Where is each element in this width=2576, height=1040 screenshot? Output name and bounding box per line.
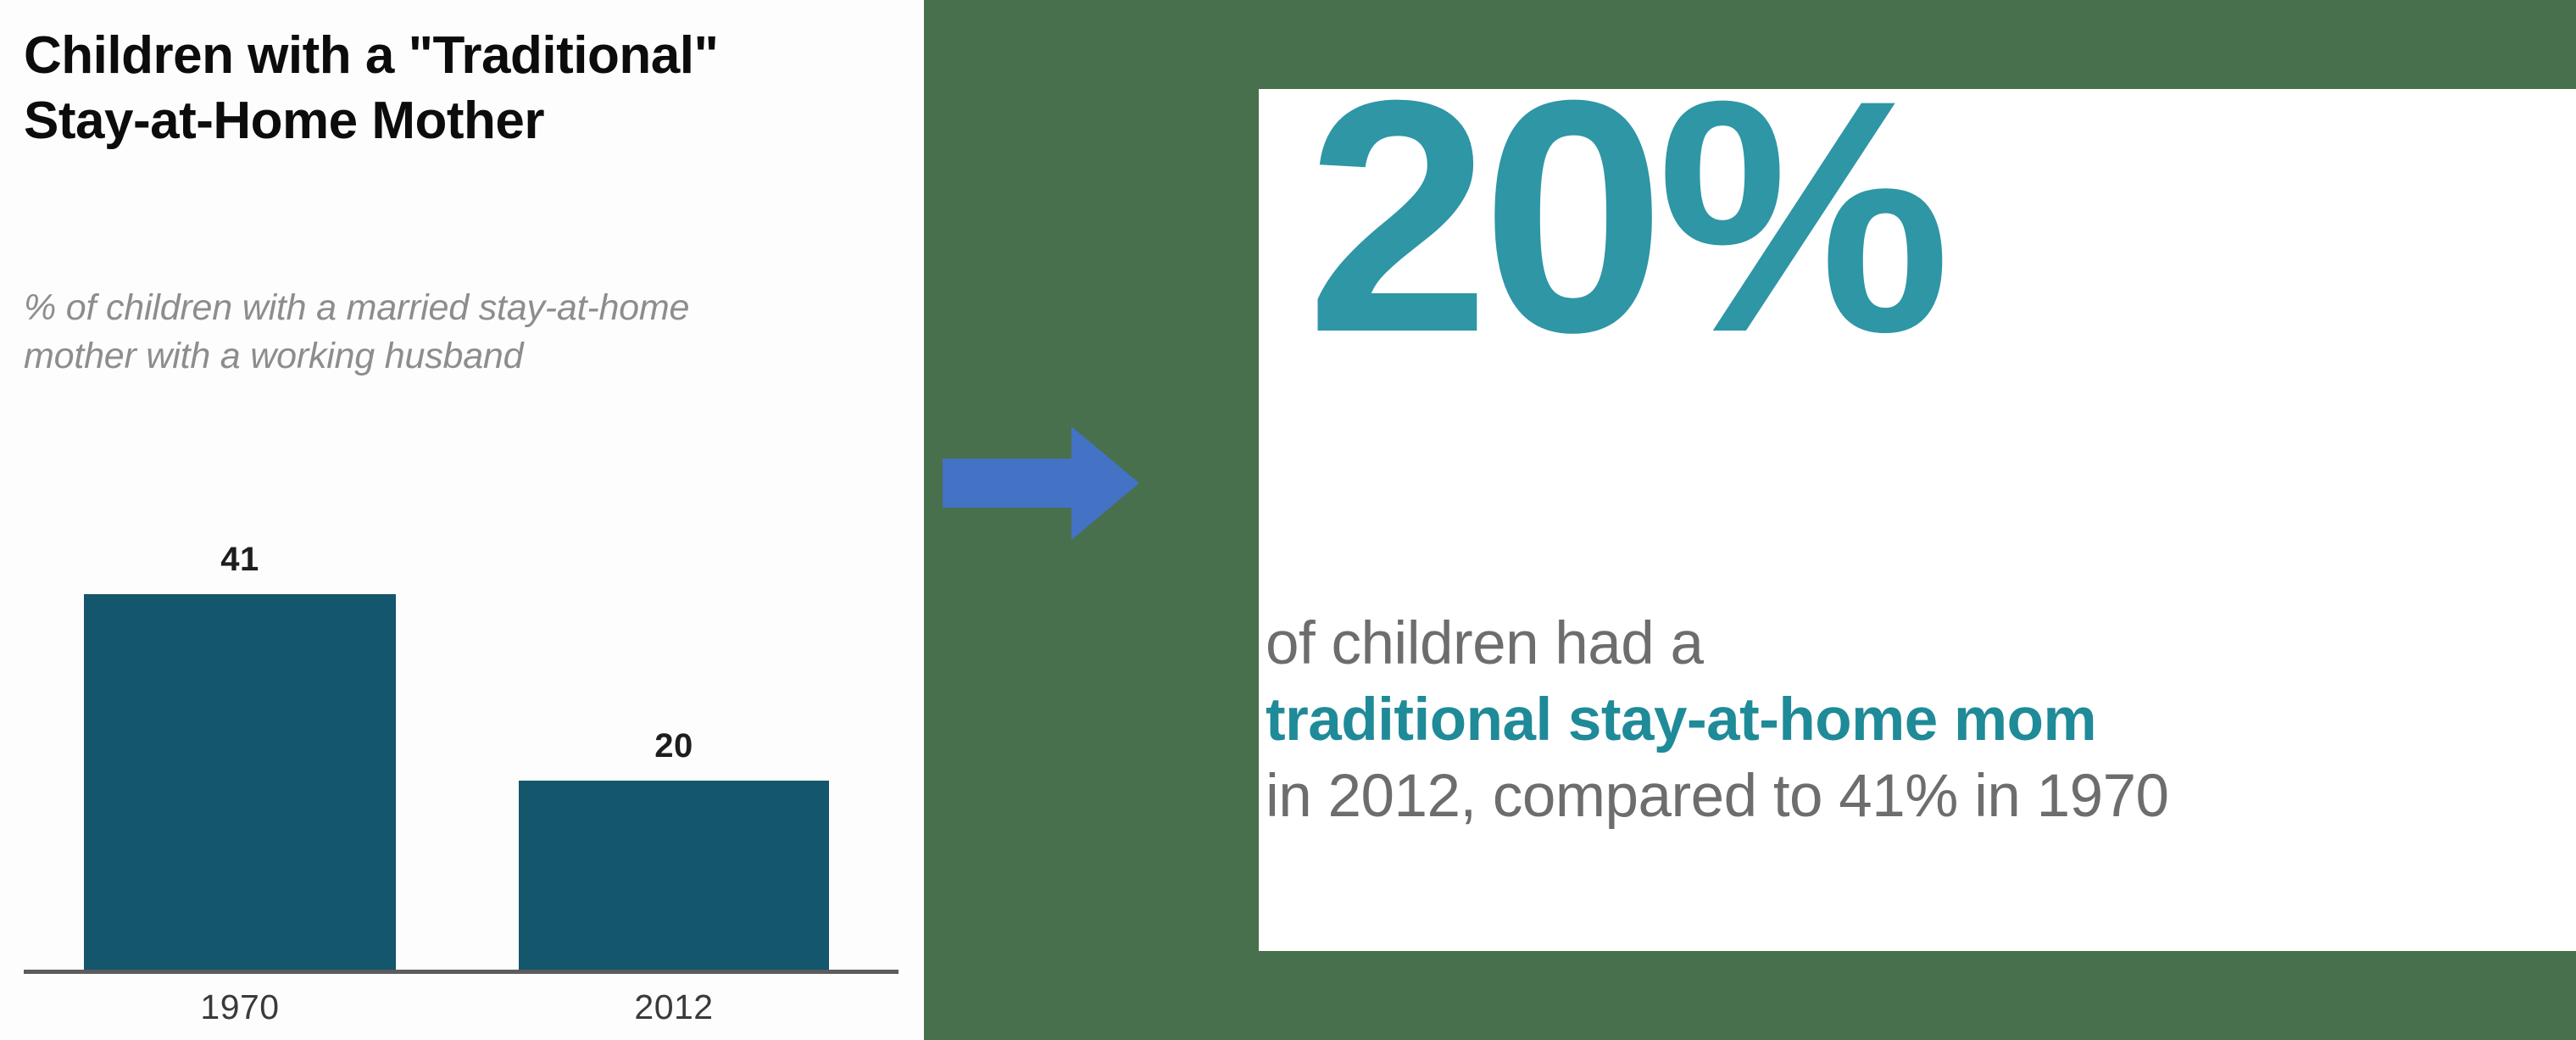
bar-value-label-1970: 41 xyxy=(85,541,395,579)
takeaway-line-2-emphasis: traditional stay-at-home mom xyxy=(1266,682,2571,759)
takeaway-line-3: in 2012, compared to 41% in 1970 xyxy=(1266,759,2571,835)
takeaway-line-1: of children had a xyxy=(1266,606,2571,682)
bar-chart-plot-area: 41 20 1970 2012 xyxy=(0,0,924,1040)
bar-value-label-2012: 20 xyxy=(520,727,828,765)
source-chart-panel: Children with a "Traditional" Stay-at-Ho… xyxy=(0,0,924,1040)
x-axis-tick-2012: 2012 xyxy=(520,987,828,1027)
takeaway-card: 20% of children had a traditional stay-a… xyxy=(1259,89,2576,951)
x-axis-line xyxy=(24,970,899,974)
bar-2012 xyxy=(520,781,828,971)
x-axis-tick-1970: 1970 xyxy=(85,987,395,1027)
takeaway-sentence: of children had a traditional stay-at-ho… xyxy=(1266,606,2571,835)
big-stat-value: 20% xyxy=(1306,89,1943,381)
arrow-right-icon xyxy=(943,420,1180,547)
bar-1970 xyxy=(85,595,395,971)
slide-canvas: Children with a "Traditional" Stay-at-Ho… xyxy=(0,0,2576,1040)
